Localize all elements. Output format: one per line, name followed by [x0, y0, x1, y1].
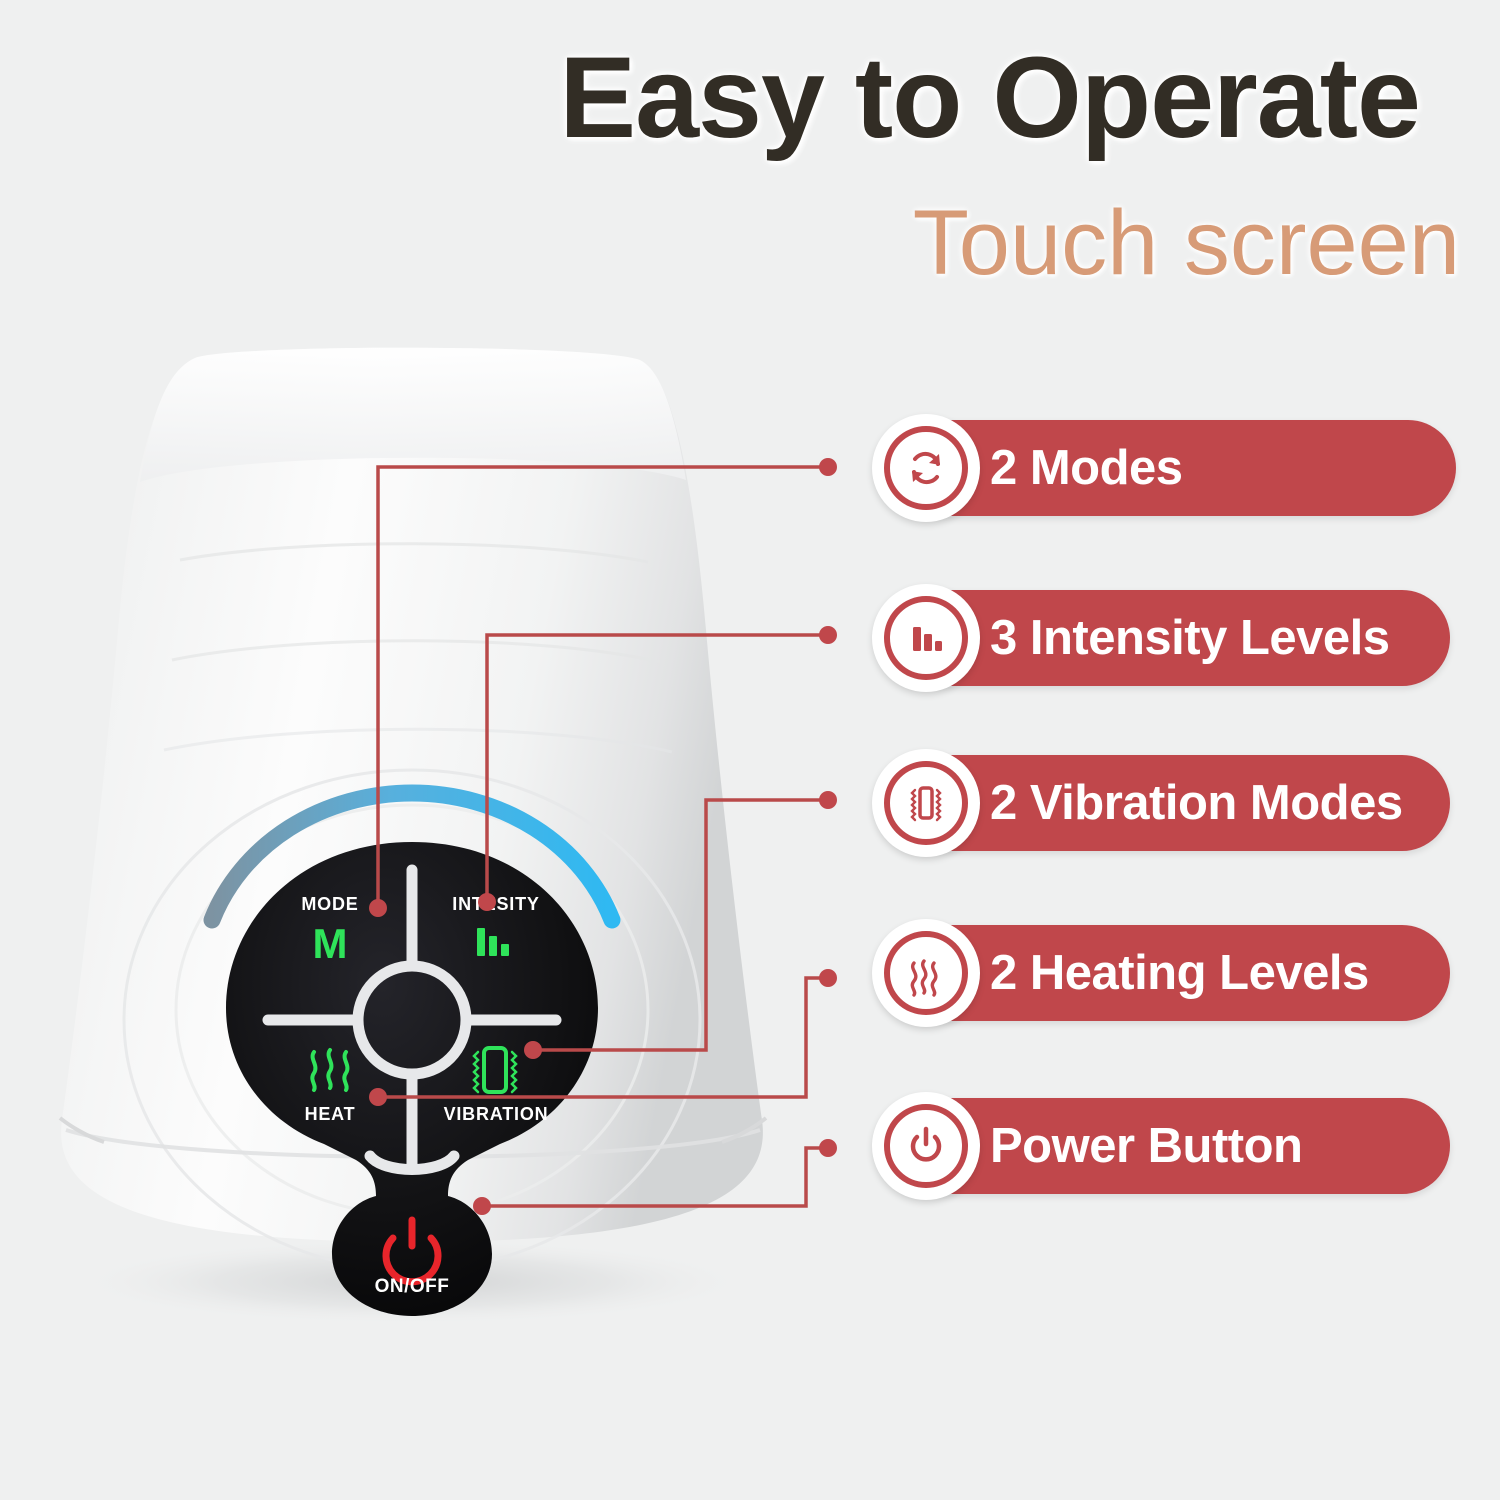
feature-label-modes: 2 Modes	[990, 440, 1209, 496]
refresh-glyph	[903, 445, 949, 491]
panel-label-heat: HEAT	[305, 1104, 356, 1124]
feature-label-power: Power Button	[990, 1118, 1328, 1174]
feature-badge-heating[interactable]: 2 Heating Levels	[878, 925, 1450, 1021]
infographic-canvas: Easy to Operate Touch screen	[0, 0, 1500, 1500]
vibration-glyph	[902, 779, 950, 827]
mode-letter-icon: M	[313, 920, 348, 967]
panel-label-vibration: VIBRATION	[444, 1104, 549, 1124]
panel-label-mode: MODE	[301, 894, 358, 914]
feature-badge-modes[interactable]: 2 Modes	[878, 420, 1456, 516]
panel-label-intensity: INTESITY	[452, 894, 539, 914]
vibration-waves	[912, 790, 940, 820]
bar-levels-icon	[872, 584, 980, 692]
vibration-capsule-icon	[872, 749, 980, 857]
power-icon	[872, 1092, 980, 1200]
power-button-label: ON/OFF	[375, 1276, 450, 1297]
device-body-svg: MODE M INTESITY HEAT VIBRATI	[0, 330, 860, 1340]
refresh-modes-icon	[872, 414, 980, 522]
bar-levels-glyph	[903, 615, 949, 661]
page-subtitle: Touch screen	[0, 195, 1460, 292]
capsule-body	[920, 788, 932, 818]
feature-badge-intensity[interactable]: 3 Intensity Levels	[878, 590, 1450, 686]
feature-label-vibration: 2 Vibration Modes	[990, 775, 1429, 831]
power-glyph	[902, 1122, 950, 1170]
feature-label-heating: 2 Heating Levels	[990, 945, 1395, 1001]
feature-label-intensity: 3 Intensity Levels	[990, 610, 1416, 666]
page-title: Easy to Operate	[0, 38, 1420, 159]
heat-waves-glyph	[902, 949, 950, 997]
heat-waves-icon	[872, 919, 980, 1027]
feature-badge-power[interactable]: Power Button	[878, 1098, 1450, 1194]
feature-badge-vibration[interactable]: 2 Vibration Modes	[878, 755, 1450, 851]
device-illustration: MODE M INTESITY HEAT VIBRATI	[0, 330, 860, 1340]
